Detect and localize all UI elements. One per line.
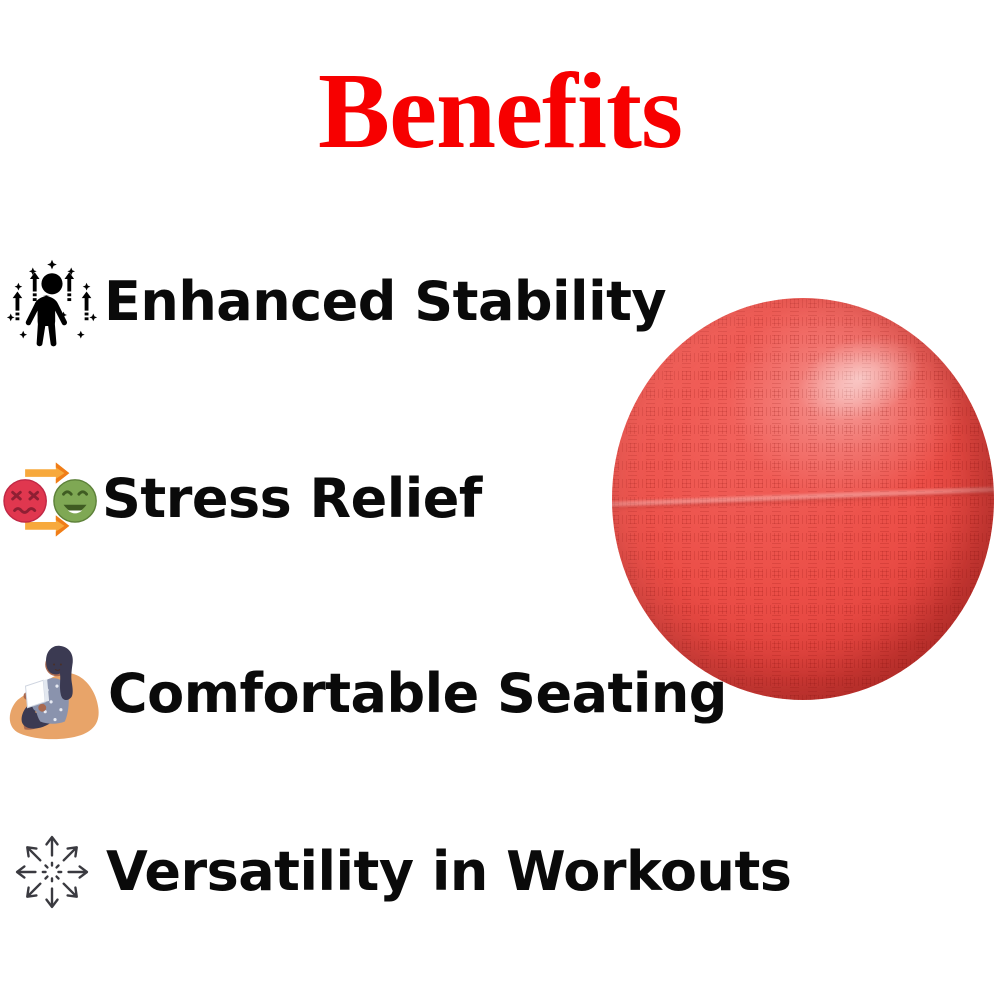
benefits-infographic: Benefits <box>0 0 1000 1000</box>
benefit-label: Versatility in Workouts <box>106 844 791 901</box>
radial-arrows-burst-icon <box>0 820 104 924</box>
page-title: Benefits <box>0 58 1000 166</box>
woman-reading-on-beanbag-icon <box>0 632 112 756</box>
benefit-item-enhanced-stability: Enhanced Stability <box>0 250 1000 354</box>
benefit-label: Comfortable Seating <box>108 666 727 723</box>
benefit-label: Enhanced Stability <box>104 274 666 331</box>
person-with-upward-arrows-sparkles-icon <box>0 250 104 354</box>
benefit-item-comfortable-seating: Comfortable Seating <box>0 632 1000 756</box>
benefit-label: Stress Relief <box>102 471 482 528</box>
stressed-face-to-happy-face-arrows-icon <box>0 447 104 551</box>
benefit-item-versatility-in-workouts: Versatility in Workouts <box>0 820 1000 924</box>
benefit-item-stress-relief: Stress Relief <box>0 447 1000 551</box>
